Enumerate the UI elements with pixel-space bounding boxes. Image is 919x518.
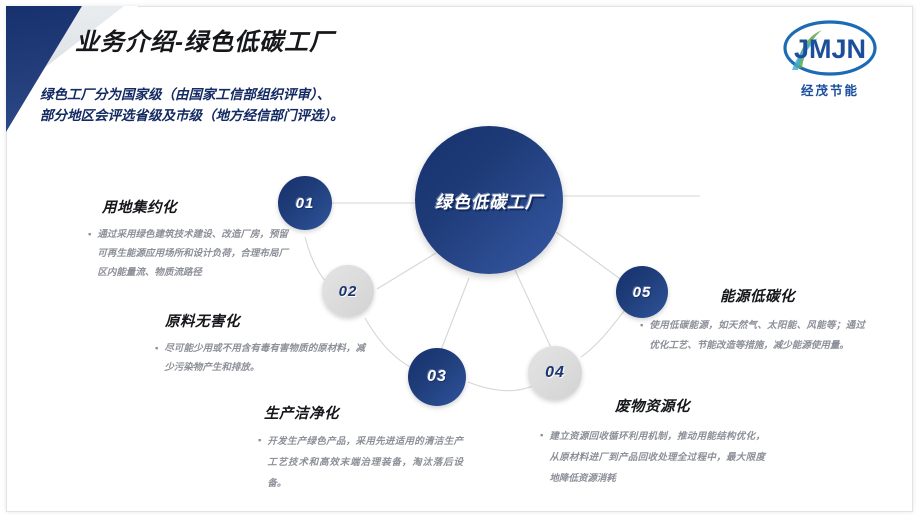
block-1-body: 通过采用绿色建筑技术建设、改造厂房，预留可再生能源应用场所和设计负荷，合理布局厂… (97, 225, 288, 282)
block-3-body: 开发生产绿色产品，采用先进适用的清洁生产工艺技术和高效末端治理装备，淘汰落后设备… (267, 431, 463, 494)
bullet-icon: ▪ (258, 431, 261, 494)
block-5-bullet: ▪ 使用低碳能源，如天然气、太阳能、风能等；通过优化工艺、节能改造等措施，减少能… (640, 316, 865, 356)
node-02-label: 02 (339, 283, 358, 300)
block-shengchanjiejinghua: 生产洁净化 ▪ 开发生产绿色产品，采用先进适用的清洁生产工艺技术和高效末端治理装… (258, 402, 463, 494)
block-4-heading: 废物资源化 (540, 395, 765, 416)
block-3-bullet: ▪ 开发生产绿色产品，采用先进适用的清洁生产工艺技术和高效末端治理装备，淘汰落后… (258, 431, 463, 494)
block-4-bullet: ▪ 建立资源回收循环利用机制，推动用能结构优化，从原材料进厂到产品回收处理全过程… (540, 426, 765, 489)
block-4-body: 建立资源回收循环利用机制，推动用能结构优化，从原材料进厂到产品回收处理全过程中，… (549, 426, 765, 489)
block-2-bullet: ▪ 尽可能少用或不用含有毒有害物质的原材料，减少污染物产生和排放。 (155, 339, 365, 377)
block-nengyuanditanhua: 能源低碳化 ▪ 使用低碳能源，如天然气、太阳能、风能等；通过优化工艺、节能改造等… (640, 285, 865, 356)
block-3-heading: 生产洁净化 (264, 402, 463, 423)
node-01-label: 01 (296, 195, 315, 212)
block-1-heading: 用地集约化 (102, 196, 288, 217)
block-yongdijiyuehua: 用地集约化 ▪ 通过采用绿色建筑技术建设、改造厂房，预留可再生能源应用场所和设计… (88, 196, 288, 282)
bullet-icon: ▪ (640, 316, 643, 356)
node-04-label: 04 (545, 364, 565, 382)
block-1-bullet: ▪ 通过采用绿色建筑技术建设、改造厂房，预留可再生能源应用场所和设计负荷，合理布… (88, 225, 288, 282)
block-5-heading: 能源低碳化 (650, 285, 865, 306)
slide: 业务介绍-绿色低碳工厂 绿色工厂分为国家级（由国家工信部组织评审）、 部分地区会… (0, 0, 919, 518)
page-subtitle: 绿色工厂分为国家级（由国家工信部组织评审）、 部分地区会评选省级及市级（地方经信… (40, 84, 344, 126)
page-title: 业务介绍-绿色低碳工厂 (75, 22, 334, 57)
logo-company-name: 经茂节能 (801, 80, 859, 99)
bullet-icon: ▪ (155, 339, 158, 377)
node-03[interactable]: 03 (408, 348, 466, 406)
block-yuanliaowuhaihua: 原料无害化 ▪ 尽可能少用或不用含有毒有害物质的原材料，减少污染物产生和排放。 (155, 310, 365, 377)
logo-mark-icon: JMJN (778, 18, 882, 78)
block-5-body: 使用低碳能源，如天然气、太阳能、风能等；通过优化工艺、节能改造等措施，减少能源使… (649, 316, 865, 356)
bullet-icon: ▪ (88, 225, 91, 282)
block-feiwuziyuanhua: 废物资源化 ▪ 建立资源回收循环利用机制，推动用能结构优化，从原材料进厂到产品回… (540, 395, 765, 489)
svg-text:JMJN: JMJN (794, 34, 866, 64)
node-03-label: 03 (427, 368, 447, 386)
node-04[interactable]: 04 (528, 346, 582, 400)
bullet-icon: ▪ (540, 426, 543, 489)
center-hub: 绿色低碳工厂 (415, 126, 563, 274)
block-2-heading: 原料无害化 (165, 310, 365, 331)
company-logo: JMJN 经茂节能 (771, 12, 889, 104)
block-2-body: 尽可能少用或不用含有毒有害物质的原材料，减少污染物产生和排放。 (164, 339, 365, 377)
center-hub-label: 绿色低碳工厂 (435, 188, 543, 213)
